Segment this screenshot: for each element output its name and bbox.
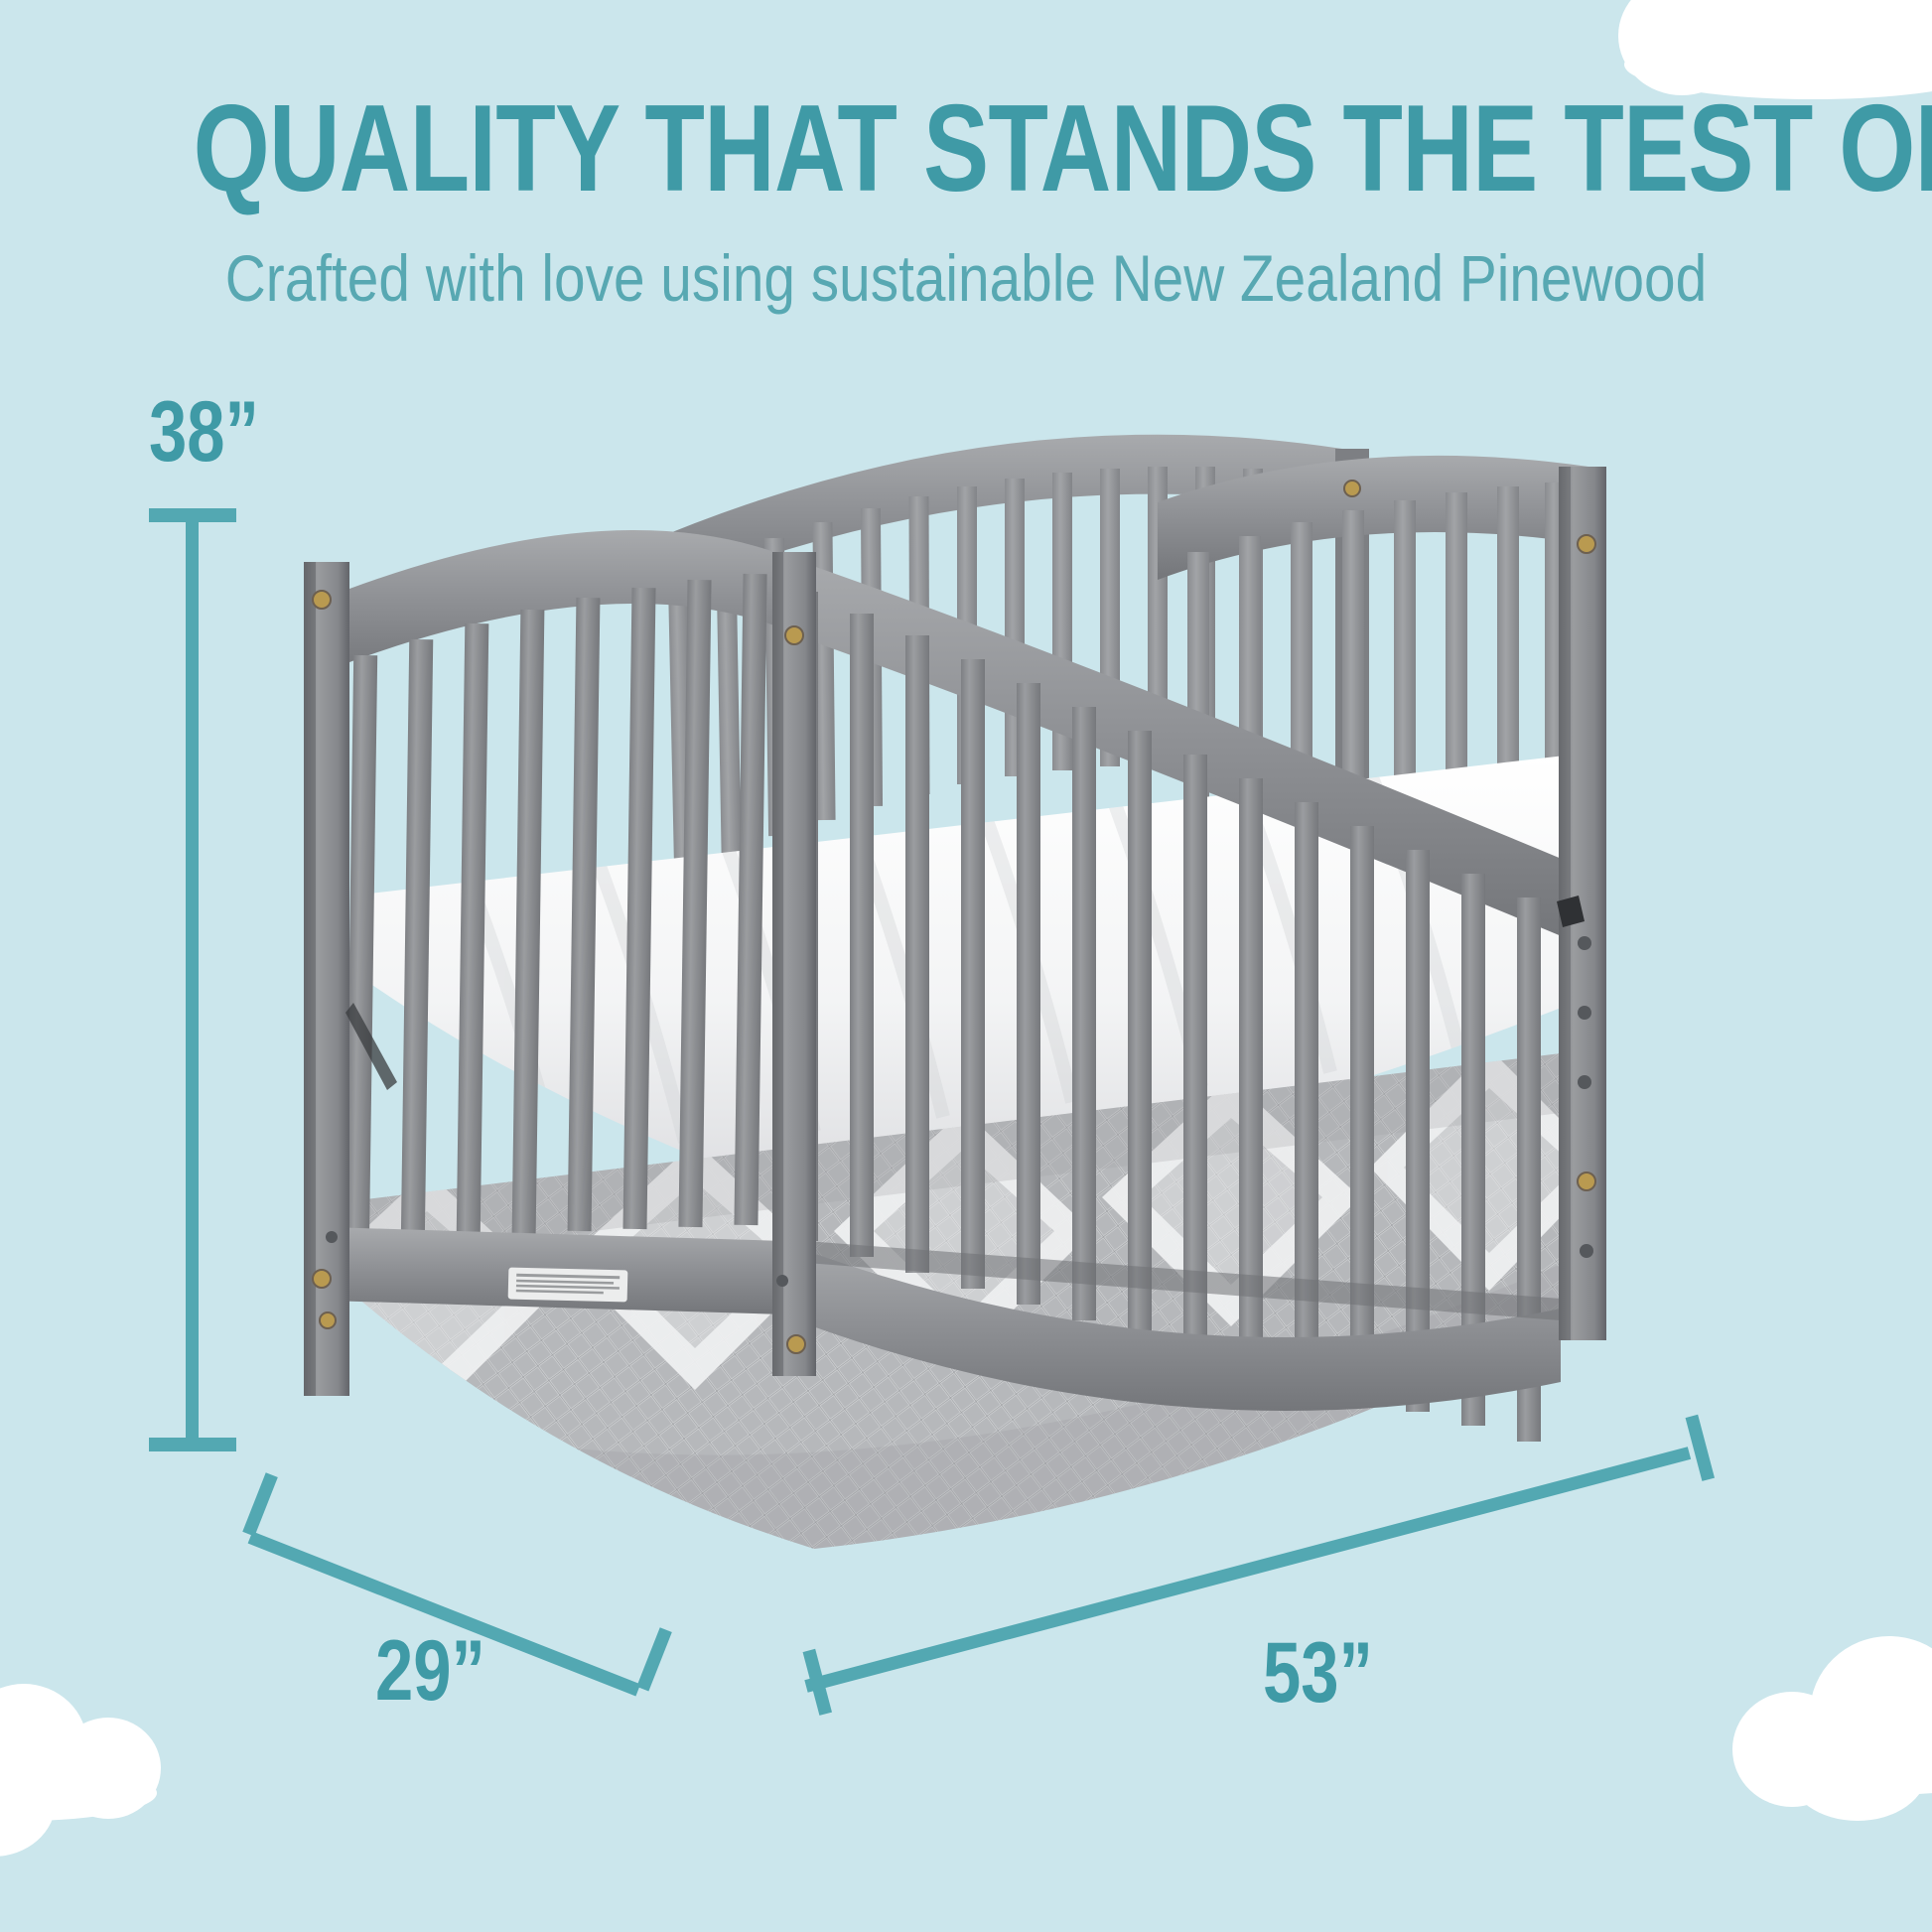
infographic-canvas: QUALITY THAT STANDS THE TEST OF TIME Cra… — [0, 0, 1932, 1932]
dimension-tick-height-top — [149, 508, 236, 522]
crib-center-post — [772, 552, 816, 1376]
dimension-tick-height-bottom — [149, 1438, 236, 1451]
warning-label — [508, 1268, 628, 1303]
dimension-label-height: 38” — [149, 389, 259, 475]
dimension-label-width: 53” — [1263, 1630, 1373, 1716]
dimension-line-height-vertical — [186, 508, 199, 1451]
dimension-label-depth: 29” — [375, 1628, 485, 1714]
